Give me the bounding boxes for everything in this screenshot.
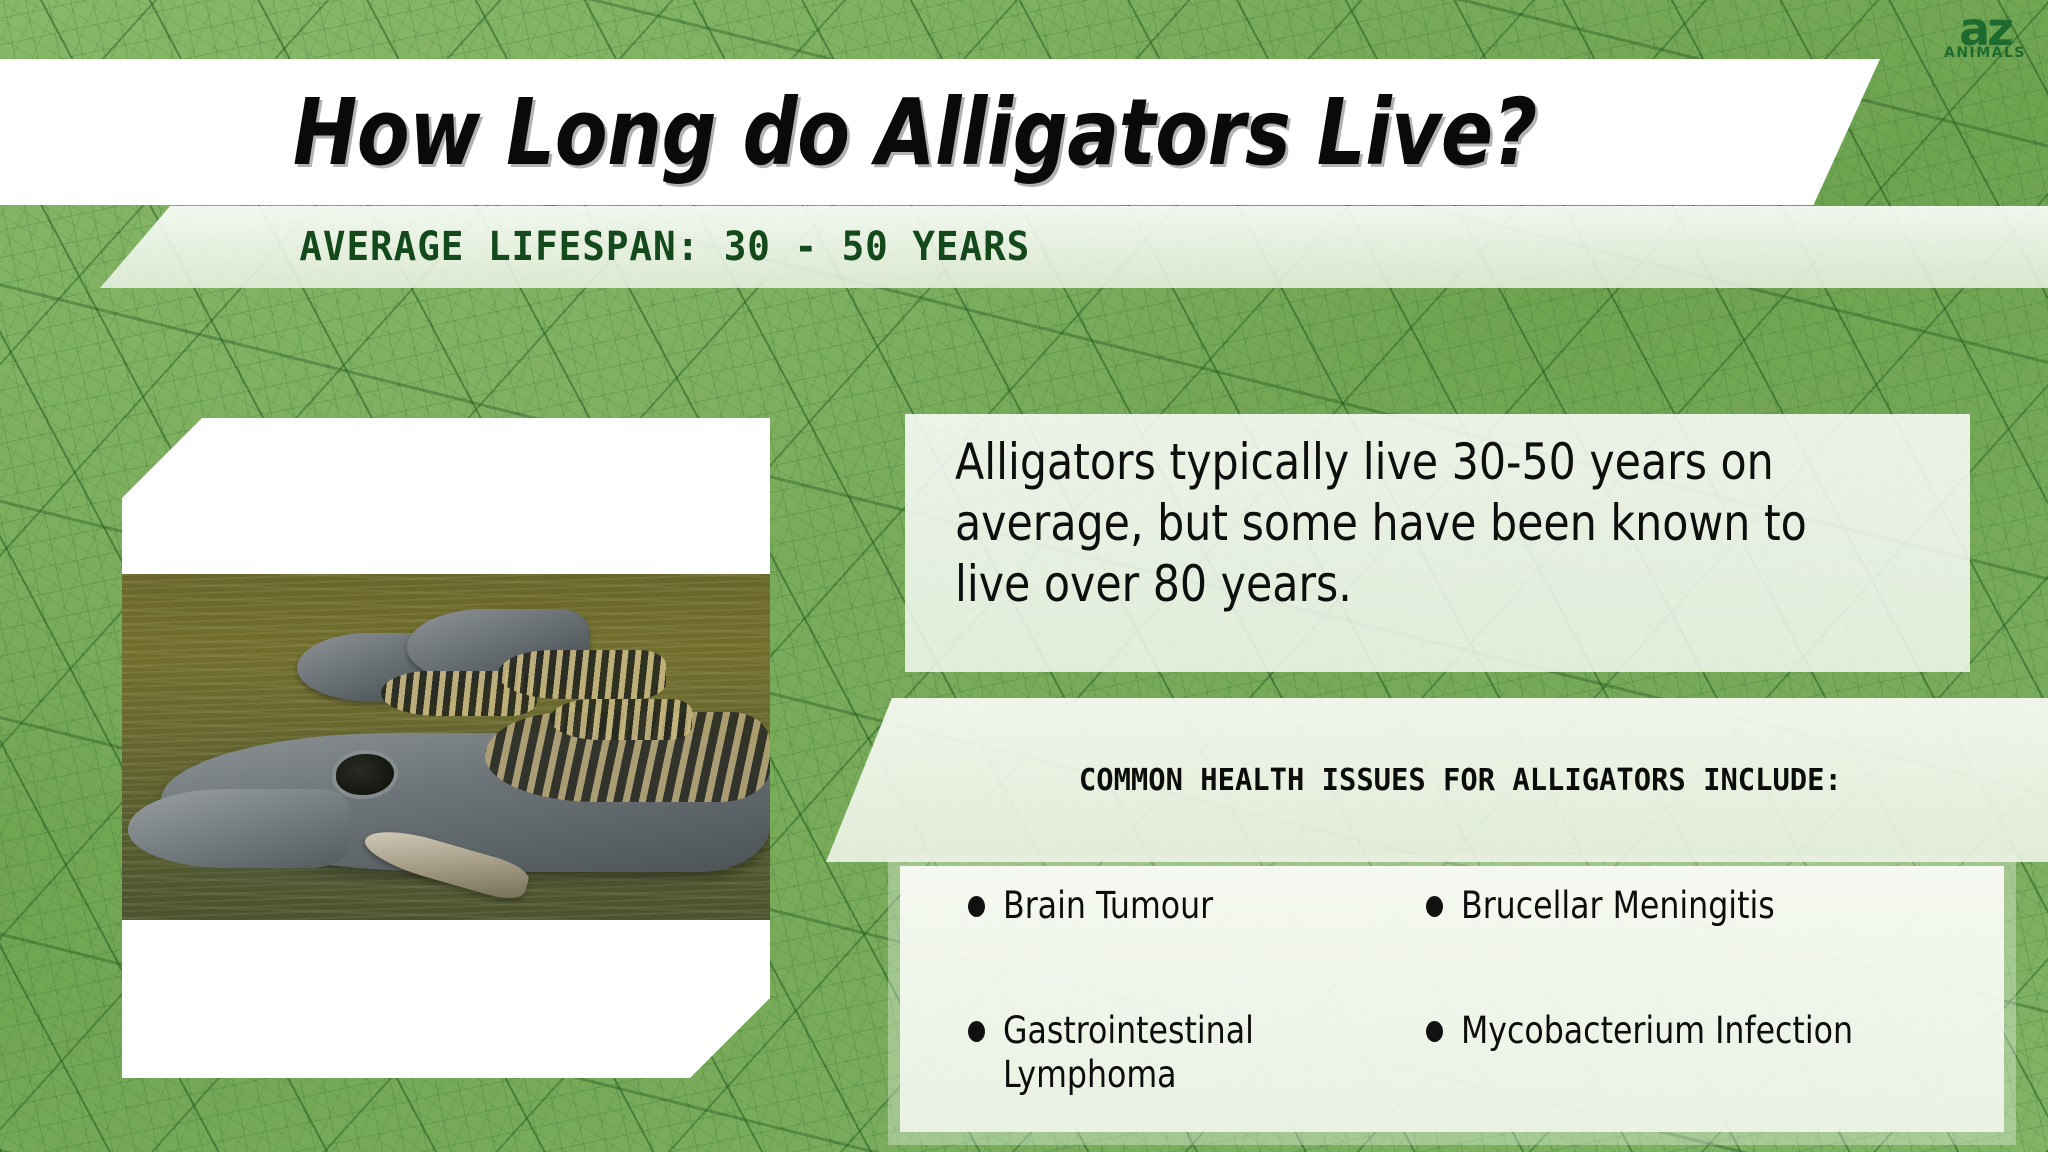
health-issues-heading: COMMON HEALTH ISSUES FOR ALLIGATORS INCL… [880, 698, 2040, 862]
health-issue-label: Mycobacterium Infection [1461, 1009, 1853, 1053]
logo-secondary-text: ANIMALS [1936, 46, 2034, 60]
baby-stripes-three [550, 699, 693, 741]
bullet-dot-icon [968, 896, 985, 917]
health-issue-label: Brain Tumour [1003, 884, 1213, 928]
alligator-snout [128, 789, 348, 869]
list-item: Gastrointestinal Lymphoma [968, 1009, 1398, 1124]
health-issues-heading-text: COMMON HEALTH ISSUES FOR ALLIGATORS INCL… [1079, 763, 1842, 798]
health-issues-list: Brain Tumour Brucellar Meningitis Gastro… [968, 884, 1988, 1124]
bullet-dot-icon [1426, 896, 1443, 917]
page-title: How Long do Alligators Live? [0, 59, 1830, 205]
subtitle-text: AVERAGE LIFESPAN: 30 - 50 YEARS [300, 224, 1031, 270]
subtitle: AVERAGE LIFESPAN: 30 - 50 YEARS [100, 206, 1230, 288]
list-item: Brain Tumour [968, 884, 1398, 999]
body-text: Alligators typically live 30-50 years on… [955, 432, 1896, 615]
infographic-canvas: az ANIMALS How Long do Alligators Live? … [0, 0, 2048, 1152]
health-issue-label: Gastrointestinal Lymphoma [1003, 1009, 1378, 1098]
az-animals-logo[interactable]: az ANIMALS [1936, 6, 2034, 68]
page-title-text: How Long do Alligators Live? [293, 79, 1537, 186]
bullet-dot-icon [1426, 1021, 1443, 1042]
health-issue-label: Brucellar Meningitis [1461, 884, 1775, 928]
list-item: Mycobacterium Infection [1426, 1009, 1988, 1124]
baby-stripes-two [498, 650, 666, 698]
alligator-photo [122, 574, 770, 920]
list-item: Brucellar Meningitis [1426, 884, 1988, 999]
bullet-dot-icon [968, 1021, 985, 1042]
